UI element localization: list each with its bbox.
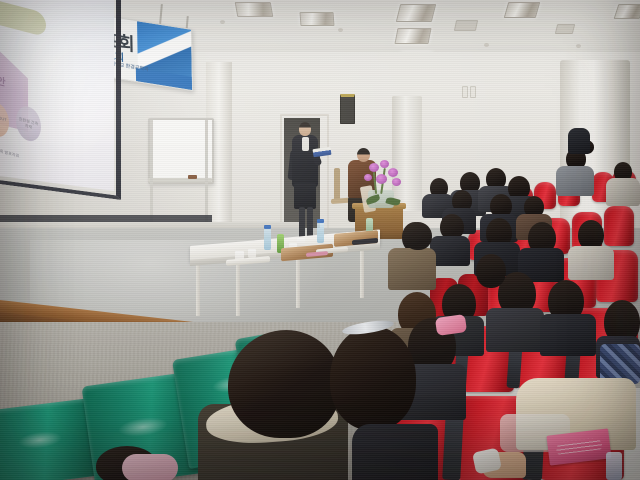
table-leg (196, 258, 200, 316)
wall-plate (470, 86, 476, 98)
orchid-flower (388, 168, 398, 177)
auditorium-seat[interactable] (604, 206, 634, 246)
column-center (392, 96, 422, 211)
audience-torso (430, 236, 470, 266)
ceiling-light-fixture (614, 4, 640, 19)
water-bottle (317, 222, 324, 243)
seat-armrest[interactable] (442, 412, 464, 480)
seminar-photograph: 표회 표회 구대학교 환경공학과 실내공기질 대책방안 쾌적한 실내환경 실내공… (0, 0, 640, 480)
orchid-flower (392, 178, 401, 186)
audience-torso (388, 248, 436, 290)
audience-torso (568, 128, 590, 154)
presenter-shirt (302, 137, 309, 151)
audience-torso (556, 166, 594, 196)
foreground-person-head (228, 330, 340, 438)
audience-torso (606, 178, 640, 206)
table-leg (360, 250, 364, 298)
wall-speaker-icon (340, 94, 355, 124)
orchid-flower (369, 163, 379, 172)
assistant-head (357, 148, 370, 162)
water-bottle (264, 228, 271, 250)
projection-screen-area: 실내공기질 대책방안 쾌적한 실내환경 실내공기질 대책방안 환기 환기구역 추… (0, 0, 118, 210)
whiteboard-leg (150, 120, 153, 228)
bottle-cap (317, 219, 324, 223)
ceiling-light-fixture (235, 2, 274, 17)
ceiling-light-fixture (504, 2, 541, 18)
table-leg (236, 262, 240, 316)
ceiling-light-fixture (394, 28, 431, 44)
presenter-leg-right (307, 207, 313, 239)
screen-frame (0, 0, 121, 200)
ceiling-sprinkler (338, 28, 343, 32)
audience-scarf (122, 454, 178, 480)
ceiling-sprinkler (220, 20, 225, 24)
presenter-skirt (294, 183, 316, 209)
presenter-head (299, 122, 311, 136)
chair-back (334, 168, 340, 202)
whiteboard-marker (188, 175, 197, 179)
foreground-person-head-2 (330, 326, 416, 430)
ceiling-sprinkler (576, 44, 581, 48)
audience-head (476, 254, 506, 288)
water-bottle (606, 452, 622, 480)
presenter-leg-left (299, 207, 305, 239)
ceiling-light-fixture (396, 4, 436, 22)
orchid-flower (380, 160, 389, 168)
bottle-cap (264, 225, 271, 229)
audience-head (404, 222, 432, 250)
whiteboard-leg (205, 120, 208, 228)
ceiling-sprinkler (484, 43, 489, 47)
audience-torso (540, 314, 596, 356)
whiteboard-tray (148, 178, 212, 182)
table-leg (296, 256, 300, 308)
foreground-person-shoulder (352, 424, 438, 480)
ceiling-vent (555, 24, 575, 34)
orchid-flower (364, 174, 372, 181)
audience-torso (568, 246, 614, 280)
audience-torso (486, 308, 544, 352)
ceiling-vent (454, 20, 478, 31)
ceiling-light-fixture (300, 12, 335, 26)
orchid-flower (376, 174, 387, 184)
wall-plate (462, 86, 468, 98)
